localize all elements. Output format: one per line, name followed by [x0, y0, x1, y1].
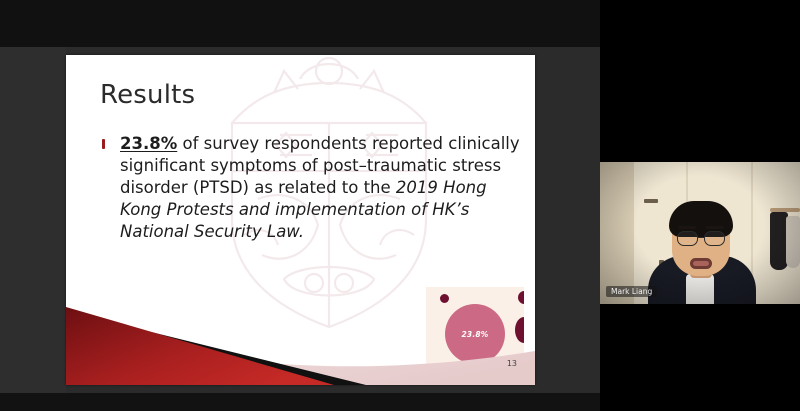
infographic-caption: reported clinically significant symptoms…	[430, 371, 520, 385]
slide-title: Results	[100, 80, 195, 110]
shared-screen-region: Results 23.8% of survey respondents repo…	[0, 0, 600, 411]
caption-line-1: reported clinically	[452, 372, 498, 378]
video-vignette	[600, 162, 800, 304]
pie-chart-circle: 23.8%	[445, 304, 505, 364]
share-left-letterbox	[0, 47, 66, 393]
pie-chart-value-label: 23.8%	[461, 330, 488, 339]
decorative-circle-mid-icon	[515, 317, 524, 343]
participant-video-tile[interactable]: Mark Liang	[600, 162, 800, 304]
infographic-card[interactable]: 23.8% reported clinically significant sy…	[426, 287, 524, 385]
slide-bullet: 23.8% of survey respondents reported cli…	[102, 133, 522, 243]
decorative-dot-icon	[440, 294, 449, 303]
share-bottom-letterbox	[0, 393, 600, 411]
slide-page-number: 13	[507, 359, 517, 368]
decorative-circle-top-icon	[518, 291, 524, 304]
presentation-slide[interactable]: Results 23.8% of survey respondents repo…	[66, 55, 535, 385]
participant-name-badge: Mark Liang	[606, 286, 657, 297]
bullet-text: 23.8% of survey respondents reported cli…	[120, 133, 522, 243]
video-panel: Mark Liang	[600, 0, 800, 411]
caption-line-2: significant symptoms of	[444, 380, 506, 385]
bullet-marker-icon	[102, 139, 105, 149]
share-top-letterbox	[0, 0, 600, 47]
stat-highlight: 23.8%	[120, 134, 177, 153]
zoom-meeting-window: Results 23.8% of survey respondents repo…	[0, 0, 800, 411]
